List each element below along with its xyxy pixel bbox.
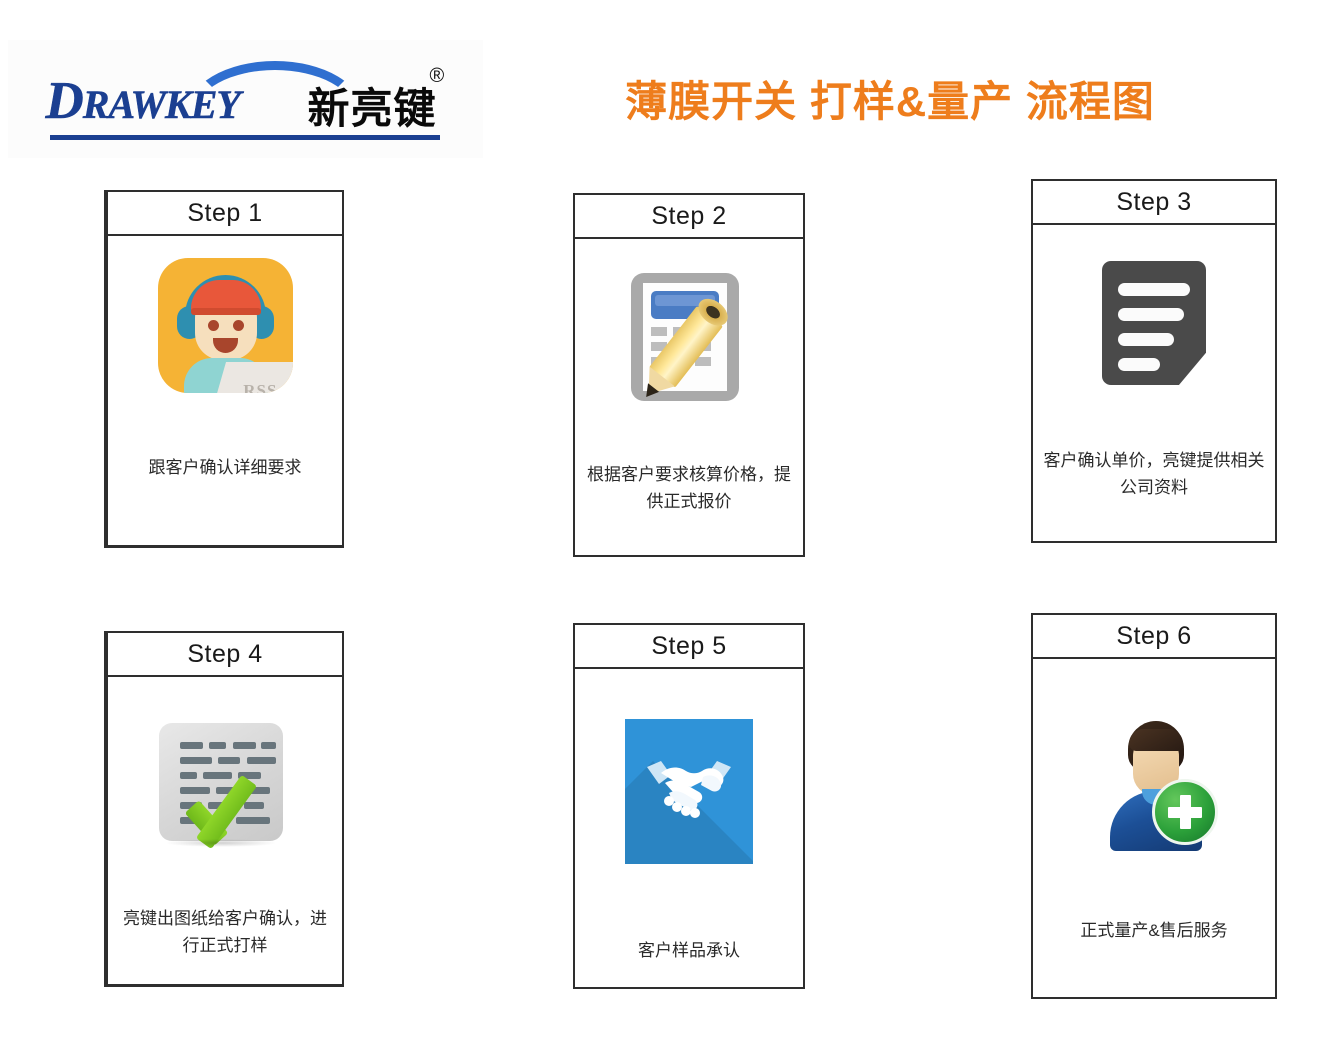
step-card-5-body: 客户样品承认 [575, 669, 803, 987]
step-card-2-caption: 根据客户要求核算价格，提供正式报价 [583, 461, 795, 515]
step-card-4-header-label: Step 4 [187, 640, 262, 669]
step-card-3-header: Step 3 [1033, 181, 1275, 225]
add-user-icon [1033, 721, 1275, 851]
handshake-icon [575, 719, 803, 864]
handshake-glyph [639, 757, 739, 819]
step-card-1-body: RSS 跟客户确认详细要求 [108, 236, 342, 545]
step-card-1-header: Step 1 [108, 192, 342, 236]
step-card-5[interactable]: Step 5 [573, 623, 805, 989]
rss-label: RSS [243, 381, 277, 393]
logo-wordmark: DRAWKEY [46, 71, 240, 131]
customer-support-headset-icon: RSS [108, 258, 342, 393]
step-card-4[interactable]: Step 4 [104, 631, 344, 987]
step-card-5-caption: 客户样品承认 [583, 937, 795, 964]
step-card-2-body: 根据客户要求核算价格，提供正式报价 [575, 239, 803, 555]
step-card-3-header-label: Step 3 [1116, 188, 1191, 217]
calculator-pencil-icon [575, 269, 803, 404]
step-card-1-header-label: Step 1 [187, 199, 262, 228]
step-card-4-body: 亮键出图纸给客户确认，进行正式打样 [108, 677, 342, 984]
step-card-5-header: Step 5 [575, 625, 803, 669]
step-card-1[interactable]: Step 1 RSS 跟客户确认详细要求 [104, 190, 344, 548]
step-card-4-header: Step 4 [108, 633, 342, 677]
step-card-2[interactable]: Step 2 [573, 193, 805, 557]
step-card-2-header-label: Step 2 [651, 202, 726, 231]
step-card-3[interactable]: Step 3 客户确认单价，亮键提供相关公司资料 [1031, 179, 1277, 543]
step-card-6[interactable]: Step 6 正式量产&售后服务 [1031, 613, 1277, 999]
step-card-5-header-label: Step 5 [651, 632, 726, 661]
step-card-6-header-label: Step 6 [1116, 622, 1191, 651]
logo-underline-rule [50, 135, 440, 140]
step-card-3-caption: 客户确认单价，亮键提供相关公司资料 [1041, 447, 1267, 501]
flowchart-page: DRAWKEY 新亮键 ® 薄膜开关 打样&量产 流程图 Step 1 [0, 0, 1332, 1054]
registered-trademark-icon: ® [430, 65, 445, 88]
step-card-3-body: 客户确认单价，亮键提供相关公司资料 [1033, 225, 1275, 541]
step-card-6-header: Step 6 [1033, 615, 1275, 659]
company-logo: DRAWKEY 新亮键 ® [8, 40, 483, 158]
step-card-4-caption: 亮键出图纸给客户确认，进行正式打样 [116, 905, 334, 959]
document-lines-icon [1033, 261, 1275, 385]
step-card-1-caption: 跟客户确认详细要求 [116, 454, 334, 481]
step-card-6-body: 正式量产&售后服务 [1033, 659, 1275, 997]
page-title: 薄膜开关 打样&量产 流程图 [500, 68, 1280, 129]
step-card-2-header: Step 2 [575, 195, 803, 239]
step-card-6-caption: 正式量产&售后服务 [1041, 917, 1267, 944]
logo-chinese-name: 新亮键 [308, 75, 437, 136]
checklist-approved-icon [108, 723, 342, 853]
